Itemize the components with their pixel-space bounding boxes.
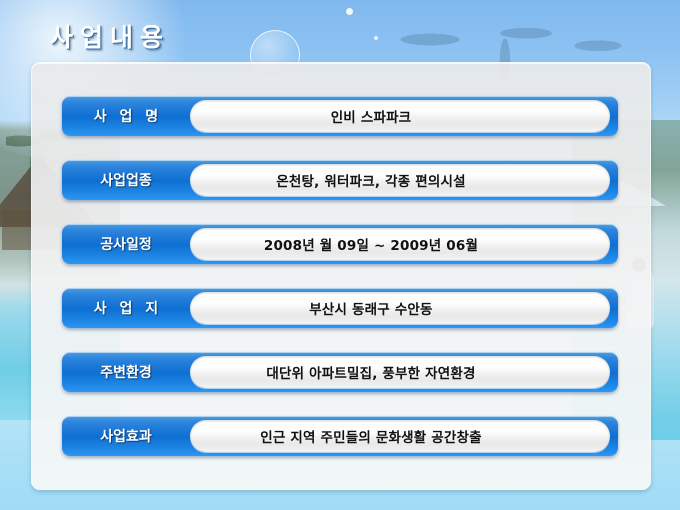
row-value-text: 온천탕, 워터파크, 각종 편의시설 bbox=[190, 170, 610, 190]
row-value-surrounding-environment: 대단위 아파트밀집, 풍부한 자연환경 bbox=[190, 356, 610, 388]
bubble-small-icon bbox=[346, 8, 353, 15]
info-row: 사 업 명 인비 스파파크 bbox=[62, 96, 618, 136]
info-row: 공사일정 2008년 월 09일 ~ 2009년 06월 bbox=[62, 224, 618, 264]
row-value-text: 부산시 동래구 수안동 bbox=[190, 298, 610, 318]
row-value-text: 2008년 월 09일 ~ 2009년 06월 bbox=[190, 234, 610, 254]
row-value-business-site: 부산시 동래구 수안동 bbox=[190, 292, 610, 324]
row-label-construction-schedule: 공사일정 bbox=[62, 224, 190, 264]
row-value-business-name: 인비 스파파크 bbox=[190, 100, 610, 132]
row-label-business-site: 사 업 지 bbox=[62, 288, 190, 328]
row-value-business-effect: 인근 지역 주민들의 문화생활 공간창출 bbox=[190, 420, 610, 452]
row-value-construction-schedule: 2008년 월 09일 ~ 2009년 06월 bbox=[190, 228, 610, 260]
row-label-surrounding-environment: 주변환경 bbox=[62, 352, 190, 392]
row-label-business-effect: 사업효과 bbox=[62, 416, 190, 456]
row-value-business-type: 온천탕, 워터파크, 각종 편의시설 bbox=[190, 164, 610, 196]
row-label-business-type: 사업업종 bbox=[62, 160, 190, 200]
info-row: 주변환경 대단위 아파트밀집, 풍부한 자연환경 bbox=[62, 352, 618, 392]
row-value-text: 대단위 아파트밀집, 풍부한 자연환경 bbox=[190, 362, 610, 382]
row-value-text: 인비 스파파크 bbox=[190, 106, 610, 126]
bubble-tiny-icon bbox=[374, 36, 378, 40]
row-label-business-name: 사 업 명 bbox=[62, 96, 190, 136]
info-row: 사업효과 인근 지역 주민들의 문화생활 공간창출 bbox=[62, 416, 618, 456]
row-value-text: 인근 지역 주민들의 문화생활 공간창출 bbox=[190, 426, 610, 446]
presentation-slide: 사업내용 사 업 명 인비 스파파크 사업업종 온천탕, 워터파크, 각종 편의… bbox=[0, 0, 680, 510]
info-row: 사업업종 온천탕, 워터파크, 각종 편의시설 bbox=[62, 160, 618, 200]
slide-title: 사업내용 bbox=[50, 18, 170, 54]
info-row-list: 사 업 명 인비 스파파크 사업업종 온천탕, 워터파크, 각종 편의시설 공사… bbox=[62, 96, 618, 456]
info-row: 사 업 지 부산시 동래구 수안동 bbox=[62, 288, 618, 328]
